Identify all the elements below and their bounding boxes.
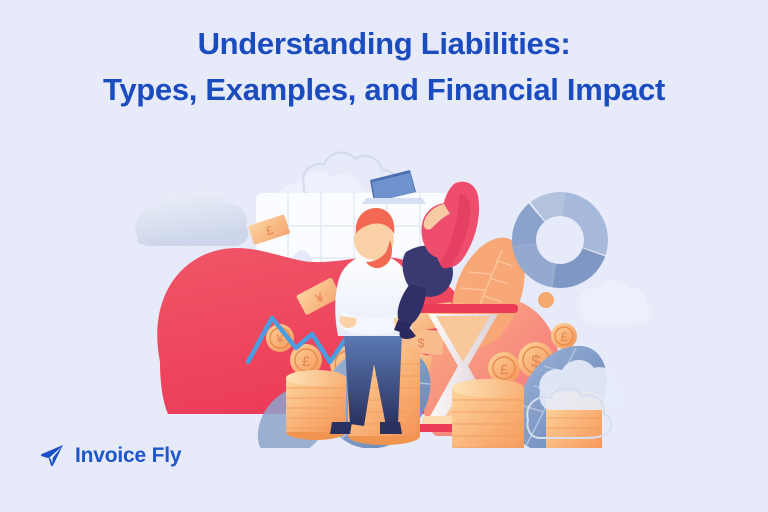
svg-text:£: £ [561, 330, 568, 344]
title-line-2: Types, Examples, and Financial Impact [0, 72, 768, 107]
poster-canvas: Understanding Liabilities: Types, Exampl… [0, 0, 768, 512]
brand-name: Invoice Fly [75, 442, 181, 470]
title-line-1: Understanding Liabilities: [0, 26, 768, 61]
page-title: Understanding Liabilities: Types, Exampl… [0, 26, 768, 107]
brand-logo[interactable]: Invoice Fly [38, 442, 181, 470]
svg-text:£: £ [500, 361, 508, 377]
svg-text:£: £ [302, 353, 310, 369]
cloud-top-left [135, 191, 248, 246]
paper-plane-icon [38, 442, 66, 470]
hero-illustration: £ ¥ $ $ [108, 148, 668, 448]
laptop [362, 170, 426, 204]
